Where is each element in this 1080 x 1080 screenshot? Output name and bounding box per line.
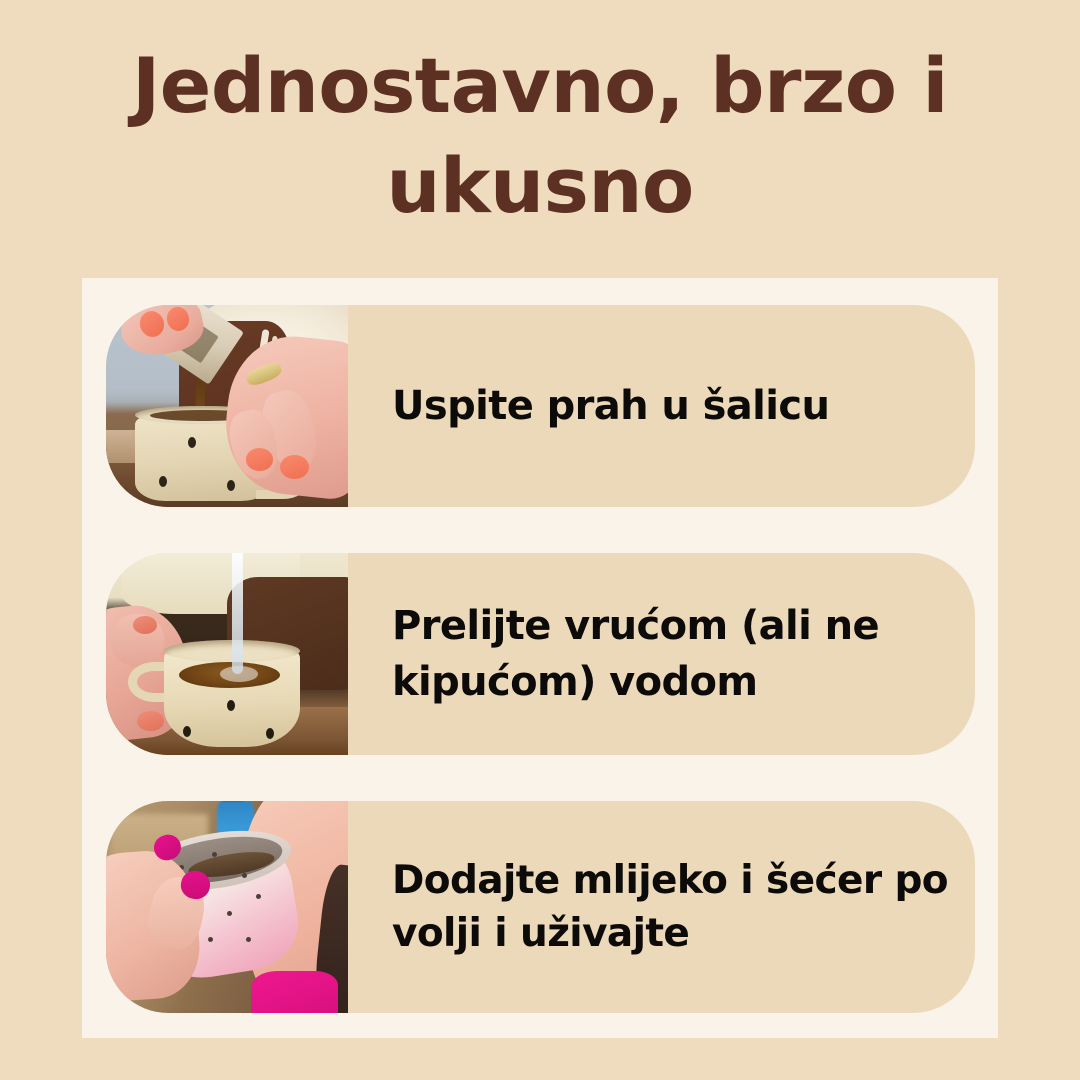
- page-title: Jednostavno, brzo i ukusno: [0, 36, 1080, 236]
- step-3-image: [106, 801, 348, 1013]
- step-2-label: Prelijte vrućom (ali ne kipućom) vodom: [392, 598, 949, 710]
- step-1-text-area: Uspite prah u šalicu: [348, 305, 975, 507]
- step-1-label: Uspite prah u šalicu: [392, 378, 829, 434]
- step-1-image: [106, 305, 348, 507]
- step-card-2: Prelijte vrućom (ali ne kipućom) vodom: [106, 553, 975, 755]
- step-3-text-area: Dodajte mlijeko i šećer po volji i uživa…: [348, 801, 975, 1013]
- page-title-line-1: Jednostavno, brzo i: [90, 36, 990, 136]
- step-3-label: Dodajte mlijeko i šećer po volji i uživa…: [392, 854, 949, 960]
- step-card-3: Dodajte mlijeko i šećer po volji i uživa…: [106, 801, 975, 1013]
- page-title-line-2: ukusno: [90, 136, 990, 236]
- step-card-1: Uspite prah u šalicu: [106, 305, 975, 507]
- steps-panel: Uspite prah u šalicu: [82, 278, 998, 1038]
- step-2-text-area: Prelijte vrućom (ali ne kipućom) vodom: [348, 553, 975, 755]
- step-2-image: [106, 553, 348, 755]
